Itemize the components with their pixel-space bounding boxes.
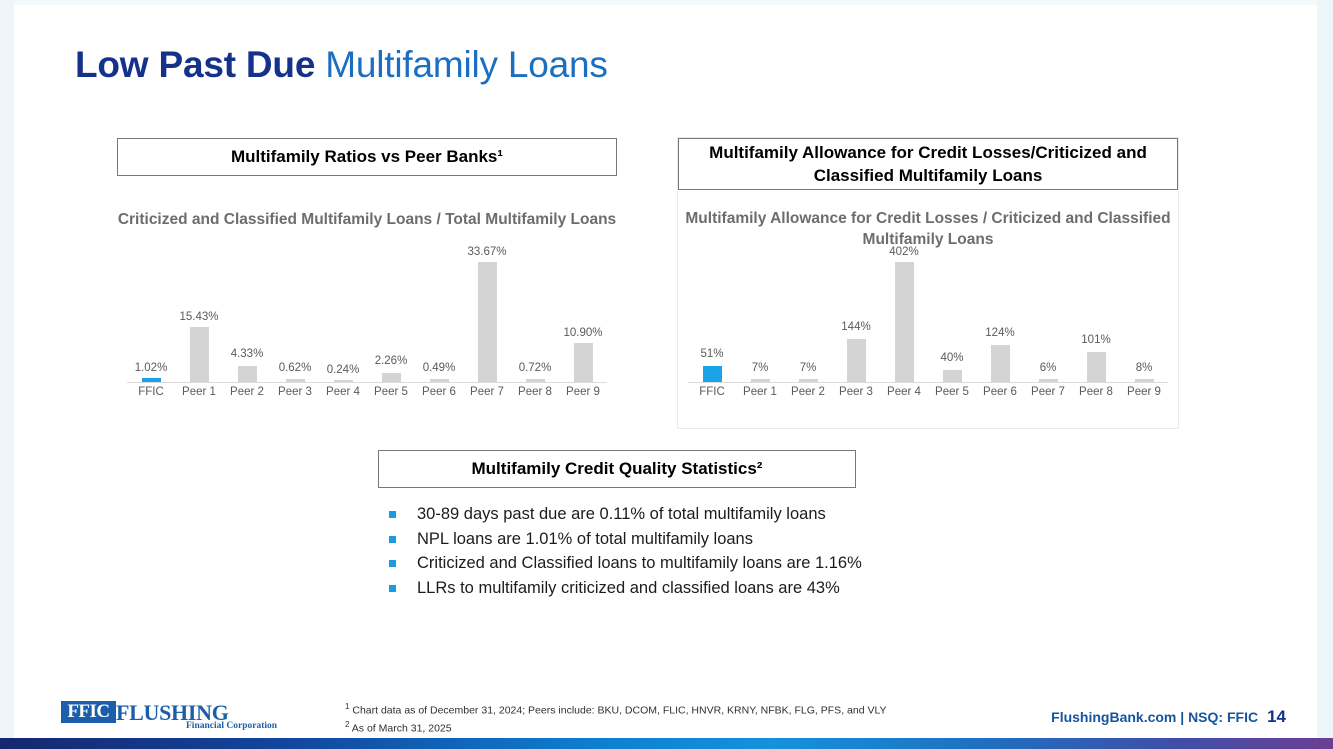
slide-top-edge xyxy=(0,0,1333,5)
bullet-square-icon xyxy=(389,560,396,567)
chart-allowance-ratio: 51% 7% 7% 144% 402% 40% 124% 6% 101% 8% … xyxy=(688,256,1168,402)
bar-value: 7% xyxy=(784,362,832,374)
bar-slot: 1.02% xyxy=(127,256,175,382)
list-item: LLRs to multifamily criticized and class… xyxy=(389,577,909,601)
cat-label: Peer 9 xyxy=(1120,386,1168,398)
bar-value: 40% xyxy=(928,352,976,364)
cat-label: Peer 1 xyxy=(175,386,223,398)
bullet-square-icon xyxy=(389,536,396,543)
website-ticker-label: FlushingBank.com | NSQ: FFIC xyxy=(1051,709,1258,725)
bar-value: 144% xyxy=(832,321,880,333)
logo-subtitle: Financial Corporation xyxy=(186,721,277,731)
cat-label: Peer 6 xyxy=(415,386,463,398)
cat-label: Peer 4 xyxy=(319,386,367,398)
bar-slot: 10.90% xyxy=(559,256,607,382)
bar-slot: 51% xyxy=(688,256,736,382)
bar-slot: 0.49% xyxy=(415,256,463,382)
bar xyxy=(895,262,914,382)
cat-label: Peer 6 xyxy=(976,386,1024,398)
bar-value: 101% xyxy=(1072,334,1120,346)
cat-label: Peer 5 xyxy=(928,386,976,398)
chart-criticized-classified: 1.02% 15.43% 4.33% 0.62% 0.24% 2.26% 0.4… xyxy=(127,256,607,402)
page-title: Low Past Due Multifamily Loans xyxy=(75,43,608,87)
bar-slot: 101% xyxy=(1072,256,1120,382)
stat-text: LLRs to multifamily criticized and class… xyxy=(417,577,840,601)
bar-slot: 7% xyxy=(736,256,784,382)
page-title-strong: Low Past Due xyxy=(75,44,315,85)
cat-label: Peer 2 xyxy=(784,386,832,398)
bar-value: 0.49% xyxy=(415,362,463,374)
bar-slot: 33.67% xyxy=(463,256,511,382)
stats-header: Multifamily Credit Quality Statistics² xyxy=(378,450,856,488)
cat-label: FFIC xyxy=(688,386,736,398)
bar-value: 10.90% xyxy=(559,327,607,339)
bar-slot: 144% xyxy=(832,256,880,382)
stat-text: NPL loans are 1.01% of total multifamily… xyxy=(417,528,753,552)
bar-slot: 2.26% xyxy=(367,256,415,382)
bar-slot: 8% xyxy=(1120,256,1168,382)
bar-slot: 0.72% xyxy=(511,256,559,382)
bar-value: 0.62% xyxy=(271,362,319,374)
bar-value: 0.24% xyxy=(319,364,367,376)
chart-left-bars: 1.02% 15.43% 4.33% 0.62% 0.24% 2.26% 0.4… xyxy=(127,256,607,382)
bar-slot: 124% xyxy=(976,256,1024,382)
bar-value: 7% xyxy=(736,362,784,374)
bullet-square-icon xyxy=(389,511,396,518)
cat-label: Peer 8 xyxy=(511,386,559,398)
stats-list: 30-89 days past due are 0.11% of total m… xyxy=(389,503,909,601)
page-number: 14 xyxy=(1267,707,1286,726)
list-item: Criticized and Classified loans to multi… xyxy=(389,552,909,576)
bar xyxy=(238,366,257,382)
cat-label: Peer 3 xyxy=(271,386,319,398)
panel-multifamily-ratios: Multifamily Ratios vs Peer Banks¹ Critic… xyxy=(117,138,617,428)
cat-label: Peer 5 xyxy=(367,386,415,398)
bar-slot: 7% xyxy=(784,256,832,382)
flushing-financial-logo: FFIC FLUSHING Financial Corporation xyxy=(61,701,243,733)
bar-slot: 0.24% xyxy=(319,256,367,382)
bar xyxy=(382,373,401,382)
panel-left-header: Multifamily Ratios vs Peer Banks¹ xyxy=(117,138,617,176)
cat-label: FFIC xyxy=(127,386,175,398)
bar-value: 15.43% xyxy=(175,311,223,323)
cat-label: Peer 9 xyxy=(559,386,607,398)
bar-value: 402% xyxy=(880,246,928,258)
bar xyxy=(190,327,209,382)
list-item: 30-89 days past due are 0.11% of total m… xyxy=(389,503,909,527)
panel-left-subtitle: Criticized and Classified Multifamily Lo… xyxy=(117,209,617,230)
chart-right-axis-line xyxy=(688,382,1168,383)
bar-slot: 4.33% xyxy=(223,256,271,382)
chart-right-category-labels: FFIC Peer 1 Peer 2 Peer 3 Peer 4 Peer 5 … xyxy=(688,386,1168,398)
footer-right: FlushingBank.com | NSQ: FFIC14 xyxy=(1051,707,1286,727)
chart-left-axis-line xyxy=(127,382,607,383)
bar-value: 2.26% xyxy=(367,355,415,367)
chart-left-category-labels: FFIC Peer 1 Peer 2 Peer 3 Peer 4 Peer 5 … xyxy=(127,386,607,398)
footnote-1: 1 Chart data as of December 31, 2024; Pe… xyxy=(345,700,887,718)
panel-right-header: Multifamily Allowance for Credit Losses/… xyxy=(678,138,1178,190)
footnote-1-text: Chart data as of December 31, 2024; Peer… xyxy=(349,705,886,717)
bar-value: 8% xyxy=(1120,362,1168,374)
cat-label: Peer 2 xyxy=(223,386,271,398)
bullet-square-icon xyxy=(389,585,396,592)
bar-value: 51% xyxy=(688,348,736,360)
cat-label: Peer 4 xyxy=(880,386,928,398)
logo-ticker-badge: FFIC xyxy=(61,701,116,723)
bar xyxy=(991,345,1010,382)
chart-right-bars: 51% 7% 7% 144% 402% 40% 124% 6% 101% 8% xyxy=(688,256,1168,382)
stat-text: 30-89 days past due are 0.11% of total m… xyxy=(417,503,826,527)
panel-right-subtitle: Multifamily Allowance for Credit Losses … xyxy=(678,208,1178,250)
slide-left-edge xyxy=(0,0,14,749)
list-item: NPL loans are 1.01% of total multifamily… xyxy=(389,528,909,552)
bar-slot: 40% xyxy=(928,256,976,382)
bar-slot: 402% xyxy=(880,256,928,382)
cat-label: Peer 1 xyxy=(736,386,784,398)
footnote-2: 2 As of March 31, 2025 xyxy=(345,718,887,736)
panel-multifamily-allowance: Multifamily Allowance for Credit Losses/… xyxy=(678,138,1178,428)
bar xyxy=(1087,352,1106,382)
cat-label: Peer 8 xyxy=(1072,386,1120,398)
bar-slot: 0.62% xyxy=(271,256,319,382)
bar xyxy=(943,370,962,382)
bar-value: 0.72% xyxy=(511,362,559,374)
cat-label: Peer 7 xyxy=(463,386,511,398)
bar xyxy=(847,339,866,382)
bar-value: 6% xyxy=(1024,362,1072,374)
bar-value: 1.02% xyxy=(127,362,175,374)
cat-label: Peer 7 xyxy=(1024,386,1072,398)
bar-slot: 15.43% xyxy=(175,256,223,382)
bar xyxy=(574,343,593,382)
slide: Low Past Due Multifamily Loans Multifami… xyxy=(0,0,1333,749)
stat-text: Criticized and Classified loans to multi… xyxy=(417,552,862,576)
page-title-light: Multifamily Loans xyxy=(315,44,608,85)
bar xyxy=(478,262,497,382)
footnotes: 1 Chart data as of December 31, 2024; Pe… xyxy=(345,700,887,735)
bar-slot: 6% xyxy=(1024,256,1072,382)
slide-right-edge xyxy=(1317,0,1333,749)
cat-label: Peer 3 xyxy=(832,386,880,398)
bar-value: 4.33% xyxy=(223,348,271,360)
bottom-accent-stripe xyxy=(0,738,1333,749)
footnote-2-text: As of March 31, 2025 xyxy=(349,722,451,734)
bar-value: 124% xyxy=(976,327,1024,339)
bar-value: 33.67% xyxy=(463,246,511,258)
bar xyxy=(703,366,722,382)
